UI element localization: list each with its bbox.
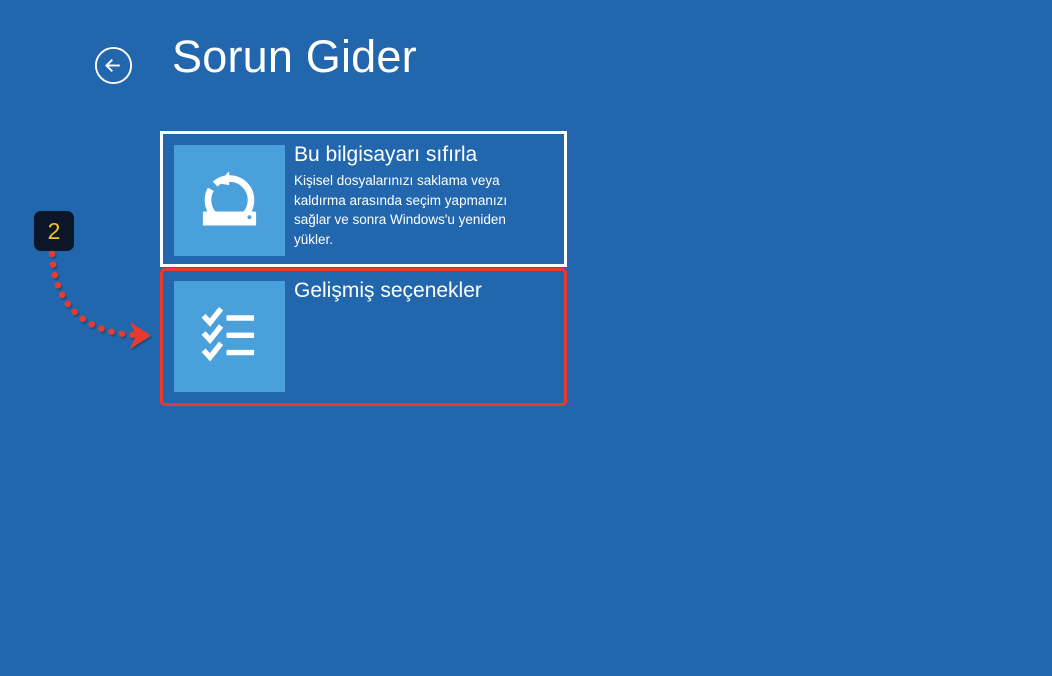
options-list: Bu bilgisayarı sıfırla Kişisel dosyaları… — [160, 131, 567, 267]
checklist-icon — [174, 281, 285, 392]
reset-pc-icon — [174, 145, 285, 256]
page-title: Sorun Gider — [172, 34, 417, 79]
recovery-screen: Sorun Gider — [0, 0, 1052, 676]
option-card-text-advanced-options: Gelişmiş seçenekler — [294, 278, 558, 307]
annotation-dotted-arrow-icon — [30, 240, 160, 360]
option-card-advanced-options[interactable]: Gelişmiş seçenekler — [160, 267, 567, 403]
option-title: Gelişmiş seçenekler — [294, 278, 558, 304]
option-card-text-reset-pc: Bu bilgisayarı sıfırla Kişisel dosyaları… — [294, 142, 558, 249]
option-title: Bu bilgisayarı sıfırla — [294, 142, 558, 168]
option-card-reset-pc[interactable]: Bu bilgisayarı sıfırla Kişisel dosyaları… — [160, 131, 567, 267]
annotation-step-badge: 2 — [34, 211, 74, 251]
header: Sorun Gider — [0, 0, 1052, 112]
back-arrow-circle-icon[interactable] — [94, 46, 133, 85]
option-description: Kişisel dosyalarınızı saklama veya kaldı… — [294, 171, 531, 249]
